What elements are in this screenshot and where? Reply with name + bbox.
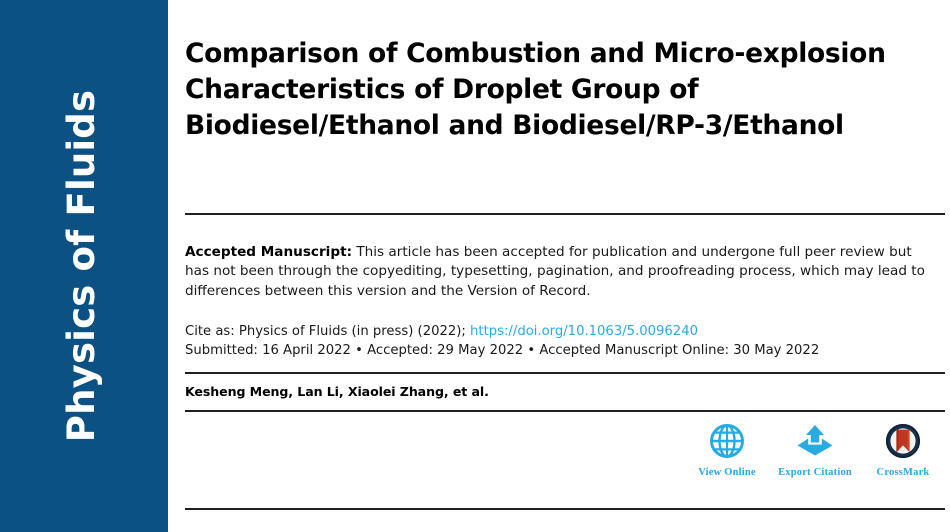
view-online-label: View Online [698,467,756,478]
article-cover-page: Physics of Fluids Comparison of Combusti… [0,0,950,532]
accepted-manuscript-lead: Accepted Manuscript: [185,244,352,260]
page-title: Comparison of Combustion and Micro-explo… [185,36,915,144]
crossmark-label: CrossMark [877,467,930,478]
cite-as-prefix: Cite as: Physics of Fluids (in press) (2… [185,324,470,339]
crossmark-icon [885,420,921,462]
divider-top [185,213,945,215]
accepted-manuscript-notice: Accepted Manuscript: This article has be… [185,243,930,302]
journal-brand-band: Physics of Fluids [0,0,168,532]
divider-below-authors [185,410,945,412]
export-citation-button[interactable]: Export Citation [773,420,857,478]
export-upload-icon [795,420,835,462]
doi-link[interactable]: https://doi.org/10.1063/5.0096240 [470,324,698,339]
divider-above-authors [185,372,945,374]
journal-title-vertical: Physics of Fluids [0,0,168,532]
globe-icon [709,420,745,462]
crossmark-button[interactable]: CrossMark [861,420,945,478]
divider-bottom [185,508,945,510]
view-online-button[interactable]: View Online [685,420,769,478]
export-citation-label: Export Citation [778,467,852,478]
cover-content: Comparison of Combustion and Micro-explo… [185,0,945,532]
publication-dates: Submitted: 16 April 2022 • Accepted: 29 … [185,341,930,360]
author-list: Kesheng Meng, Lan Li, Xiaolei Zhang, et … [185,383,885,400]
citation-block: Cite as: Physics of Fluids (in press) (2… [185,322,930,360]
action-icon-row: View Online Export Citation [685,420,945,490]
